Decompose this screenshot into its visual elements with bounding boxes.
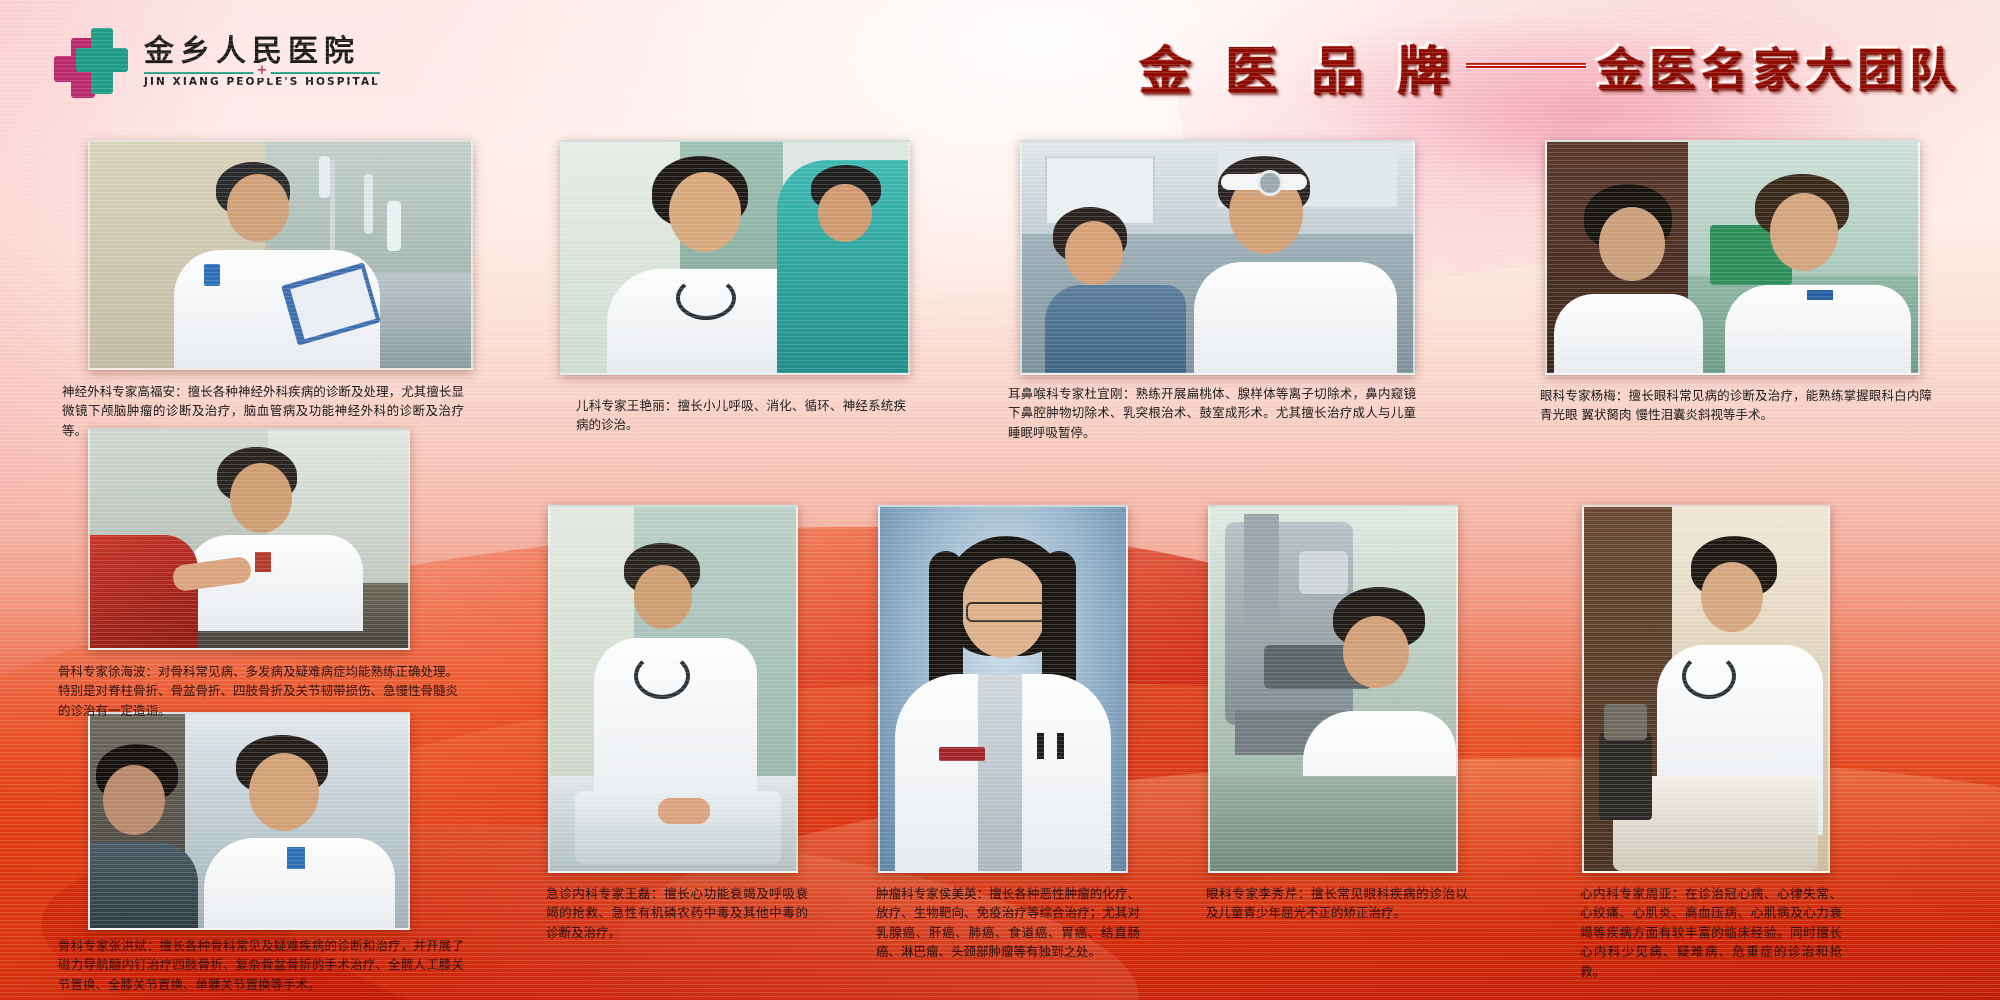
photo-yang-mei [1545,140,1920,375]
title-sub-text: 金医名家大团队 [1596,33,1960,99]
poster-canvas: 金乡人民医院 JIN XIANG PEOPLE'S HOSPITAL 金 医 品… [0,0,2000,1000]
photo-xu-haibo [88,428,410,650]
caption-zhang-hongbin: 骨科专家张洪斌：擅长各种骨科常见及疑难疾病的诊断和治疗，并开展了磁力导航髓内钉治… [58,936,464,994]
poster-header: 金乡人民医院 JIN XIANG PEOPLE'S HOSPITAL 金 医 品… [0,0,2000,130]
caption-wang-lei: 急诊内科专家王磊：擅长心功能衰竭及呼吸衰竭的抢救、急性有机磷农药中毒及其他中毒的… [546,884,808,942]
caption-zhou-ya: 心内科专家周亚：在诊治冠心病、心律失常、心绞痛、心肌炎、高血压病、心肌病及心力衰… [1580,884,1842,981]
photo-card-zhou-ya [1582,505,1830,873]
caption-li-xiuqin: 眼科专家李秀芹：擅长常见眼科疾病的诊治以及儿童青少年屈光不正的矫正治疗。 [1206,884,1468,923]
photo-card-yang-mei [1545,140,1920,375]
title-main-text: 金 医 品 牌 [1138,28,1456,103]
photo-card-gao-fuan [88,140,473,370]
caption-yang-mei: 眼科专家杨梅：擅长眼科常见病的诊断及治疗，能熟练掌握眼科白内障 青光眼 翼状胬肉… [1540,386,1932,425]
photo-wang-yanli [560,140,910,375]
title-dash-icon [1466,63,1586,68]
photo-card-du-yigang [1020,140,1415,375]
photo-gao-fuan [88,140,473,370]
photo-li-xiuqin [1208,505,1458,873]
photo-card-xu-haibo [88,428,410,650]
photo-card-li-xiuqin [1208,505,1458,873]
caption-gao-fuan: 神经外科专家高福安：擅长各种神经外科疾病的诊断及处理，尤其擅长显微镜下颅脑肿瘤的… [62,382,464,440]
caption-wang-yanli: 儿科专家王艳丽：擅长小儿呼吸、消化、循环、神经系统疾病的诊治。 [576,396,906,435]
caption-xu-haibo: 骨科专家徐海波：对骨科常见病、多发病及疑难病症均能熟练正确处理。特别是对脊柱骨折… [58,662,458,720]
hospital-logo: 金乡人民医院 JIN XIANG PEOPLE'S HOSPITAL [52,26,380,98]
photo-hou-meiying [878,505,1128,873]
logo-divider [144,72,380,74]
photo-card-wang-yanli [560,140,910,375]
hospital-cross-icon [52,26,130,98]
photo-card-zhang-hongbin [88,712,410,930]
photo-card-wang-lei [548,505,798,873]
photo-zhou-ya [1582,505,1830,873]
photo-card-hou-meiying [878,505,1128,873]
caption-du-yigang: 耳鼻喉科专家杜宜刚：熟练开展扁桃体、腺样体等离子切除术，鼻内窥镜下鼻腔肿物切除术… [1008,384,1416,442]
photo-wang-lei [548,505,798,873]
photo-du-yigang [1020,140,1415,375]
photo-zhang-hongbin [88,712,410,930]
poster-title: 金 医 品 牌 金医名家大团队 [1138,28,1960,103]
caption-hou-meiying: 肿瘤科专家侯美英：擅长各种恶性肿瘤的化疗、放疗、生物靶向、免疫治疗等综合治疗；尤… [876,884,1140,962]
